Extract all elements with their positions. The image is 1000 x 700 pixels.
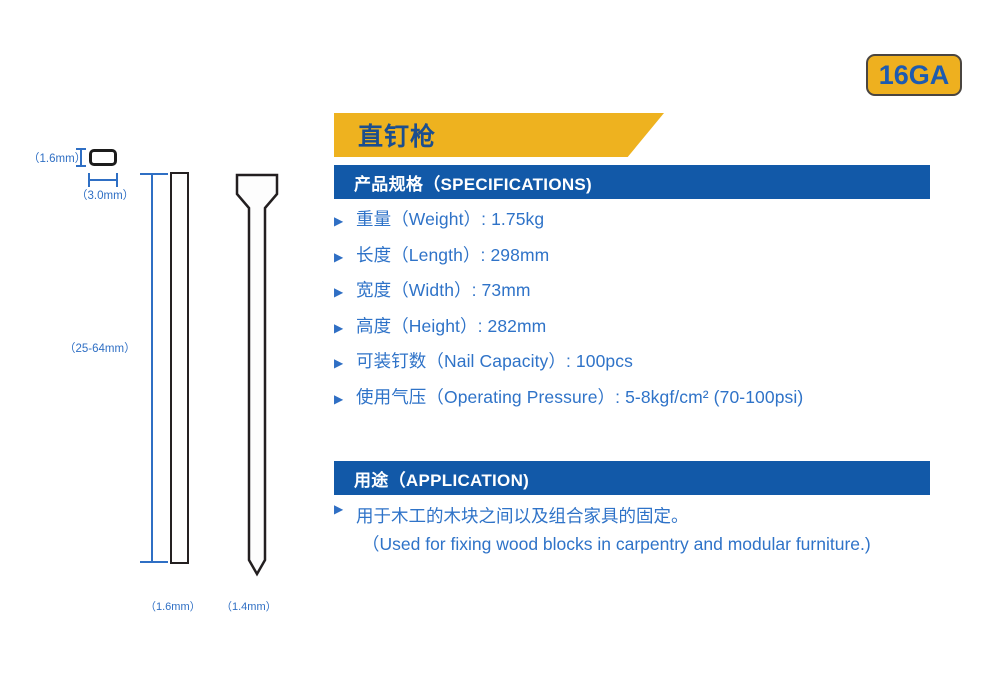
specifications-heading-bar: 产品规格（SPECIFICATIONS) bbox=[334, 165, 930, 199]
triangle-bullet-icon: ▶ bbox=[334, 214, 356, 227]
spec-row: ▶ 重量（Weight）: 1.75kg bbox=[334, 206, 974, 242]
triangle-bullet-icon: ▶ bbox=[334, 502, 356, 515]
application-heading-text: 用途（APPLICATION) bbox=[354, 466, 529, 491]
product-title-banner: 直钉枪 bbox=[334, 113, 664, 157]
content-column: 直钉枪 产品规格（SPECIFICATIONS) ▶ 重量（Weight）: 1… bbox=[334, 0, 974, 700]
application-text-english: （Used for fixing wood blocks in carpentr… bbox=[356, 530, 871, 558]
technical-drawing: （1.6mm） （3.0mm） （25-64mm） （1.6mm） （1.4mm… bbox=[0, 120, 320, 570]
spec-row: ▶ 宽度（Width）: 73mm bbox=[334, 277, 974, 313]
spec-row: ▶ 长度（Length）: 298mm bbox=[334, 242, 974, 278]
application-heading-bar: 用途（APPLICATION) bbox=[334, 461, 930, 495]
triangle-bullet-icon: ▶ bbox=[334, 356, 356, 369]
dim-cross-section-width: （3.0mm） bbox=[76, 187, 134, 203]
nail-profile-brad bbox=[234, 172, 280, 592]
dim-nail-right-width: （1.4mm） bbox=[221, 598, 277, 614]
triangle-bullet-icon: ▶ bbox=[334, 250, 356, 263]
application-body: ▶ 用于木工的木块之间以及组合家具的固定。 （Used for fixing w… bbox=[334, 502, 974, 559]
dim-nail-length: （25-64mm） bbox=[64, 340, 136, 356]
application-text-chinese: 用于木工的木块之间以及组合家具的固定。 bbox=[356, 502, 871, 530]
nail-profile-straight bbox=[170, 172, 189, 564]
spec-nail-capacity: 可装钉数（Nail Capacity）: 100pcs bbox=[356, 348, 633, 373]
triangle-bullet-icon: ▶ bbox=[334, 321, 356, 334]
triangle-bullet-icon: ▶ bbox=[334, 285, 356, 298]
triangle-bullet-icon: ▶ bbox=[334, 392, 356, 405]
specifications-heading-text: 产品规格（SPECIFICATIONS) bbox=[354, 170, 592, 195]
spec-row: ▶ 高度（Height）: 282mm bbox=[334, 313, 974, 349]
spec-row: ▶ 可装钉数（Nail Capacity）: 100pcs bbox=[334, 348, 974, 384]
specifications-list: ▶ 重量（Weight）: 1.75kg ▶ 长度（Length）: 298mm… bbox=[334, 206, 974, 419]
nail-brad-shape bbox=[234, 172, 280, 592]
spec-width: 宽度（Width）: 73mm bbox=[356, 277, 531, 302]
spec-height: 高度（Height）: 282mm bbox=[356, 313, 546, 338]
dim-nail-left-width: （1.6mm） bbox=[145, 598, 201, 614]
spec-length: 长度（Length）: 298mm bbox=[356, 242, 549, 267]
application-row: ▶ 用于木工的木块之间以及组合家具的固定。 （Used for fixing w… bbox=[334, 502, 974, 559]
spec-operating-pressure: 使用气压（Operating Pressure）: 5-8kgf/cm² (70… bbox=[356, 384, 803, 409]
application-text-block: 用于木工的木块之间以及组合家具的固定。 （Used for fixing woo… bbox=[356, 502, 871, 559]
product-title: 直钉枪 bbox=[358, 113, 436, 157]
spec-weight: 重量（Weight）: 1.75kg bbox=[356, 206, 544, 231]
spec-row: ▶ 使用气压（Operating Pressure）: 5-8kgf/cm² (… bbox=[334, 384, 974, 420]
dim-cross-section-thickness: （1.6mm） bbox=[28, 150, 86, 166]
